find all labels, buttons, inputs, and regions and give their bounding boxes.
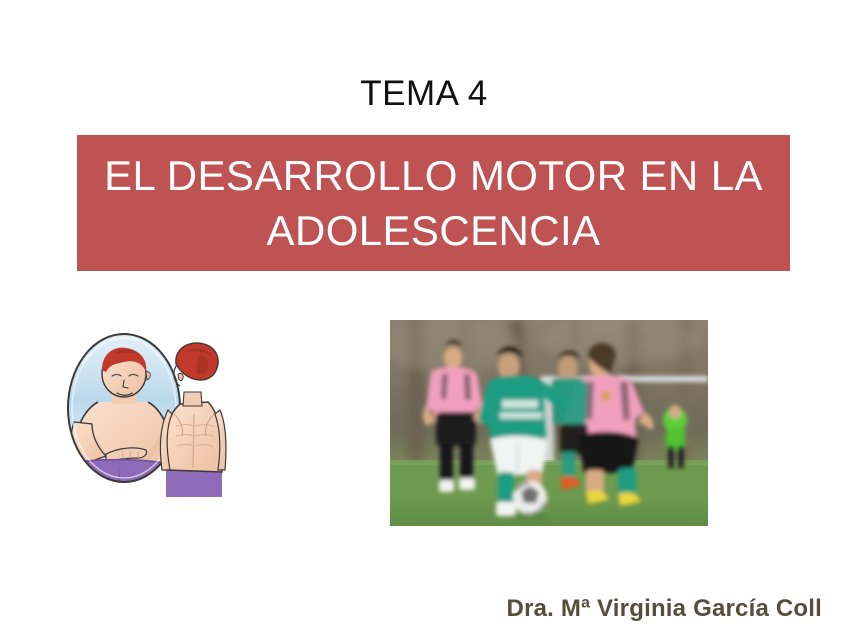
slide-kicker: TEMA 4 [0,76,848,111]
soccer-photo [390,320,708,526]
slide-canvas: TEMA 4 EL DESARROLLO MOTOR EN LA ADOLESC… [0,0,848,636]
body-image-clipart-graphic [62,330,227,497]
title-line-2: ADOLESCENCIA [77,203,790,258]
body-image-clipart [62,330,227,497]
title-line-1: EL DESARROLLO MOTOR EN LA [77,148,790,203]
author-credit: Dra. Mª Virginia García Coll [507,595,822,624]
title-banner: EL DESARROLLO MOTOR EN LA ADOLESCENCIA [77,135,790,271]
soccer-photo-graphic [390,320,708,526]
